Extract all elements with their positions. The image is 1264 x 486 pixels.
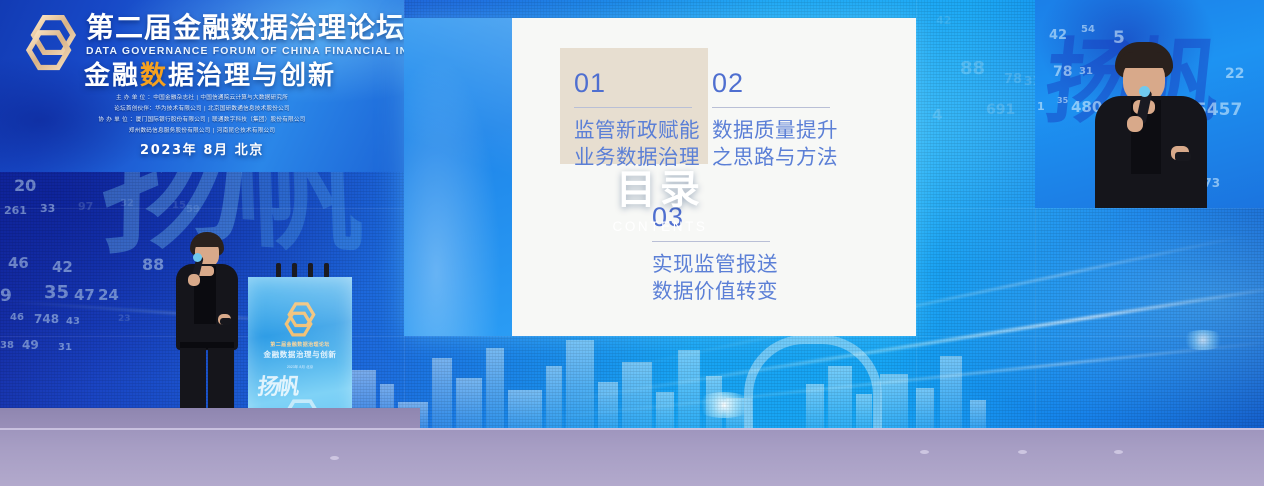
podium-date: 2023年 8月 北京 [248,365,352,370]
organizer-line: 郑州数码信息服务股份有限公司 | 河南昆仑技术有限公司 [0,126,404,137]
toc-item-rule [574,107,692,108]
toc-item-line2: 之思路与方法 [712,144,838,171]
organizer-line: 主 办 单 位 ：中国金融杂志社 | 中国信通院云计算与大数据研究所 [0,93,404,104]
floor-marker [330,456,339,460]
podium-title: 第二届金融数据治理论坛 [248,341,352,348]
organizer-line: 论坛首创伙伴：华为技术有限公司 | 北京国研数通信息技术股份公司 [0,104,404,115]
toc-item-rule [712,107,830,108]
theme-part-1: 金融 [84,61,140,91]
toc-item-number: 01 [574,70,700,97]
toc-item-02: 02 数据质量提升 之思路与方法 [712,70,838,172]
floor-marker [1114,450,1123,454]
forum-banner: 第二届金融数据治理论坛 DATA GOVERNANCE FORUM OF CHI… [0,0,404,172]
theme-highlight-char: 数 [140,61,168,91]
conference-stage-scene: 扬 帆 819 25 1 6437 17 68 23 15 4 20 261 3… [0,0,1264,486]
banner-date-location: 2023年 8月 北京 [0,139,404,158]
floor-marker [1018,450,1027,454]
banner-organizers: 主 办 单 位 ：中国金融杂志社 | 中国信通院云计算与大数据研究所 论坛首创伙… [0,93,404,137]
toc-item-line2: 数据价值转变 [652,278,778,305]
podium-calligraphy: 扬帆 [256,369,301,401]
presentation-clicker [220,318,232,325]
toc-title-en: CONTENTS [404,219,916,234]
banner-theme: 金融数据治理与创新 [84,60,336,93]
organizer-line: 协 办 单 位 ：厦门国际银行股份有限公司 | 联通数字科技（集团）股份有限公司 [0,115,404,126]
podium-subtitle: 金融数据治理与创新 [248,349,352,360]
presentation-slide: 目录 CONTENTS 01 监管新政赋能 业务数据治理 02 数据质量提升 之… [404,18,916,336]
microphone-head [1139,86,1150,97]
presentation-clicker [1175,152,1191,161]
banner-title: 第二届金融数据治理论坛 [86,14,404,42]
podium-logo-icon [282,301,318,337]
toc-title-cn: 目录 [404,170,916,210]
toc-item-line1: 监管新政赋能 [574,117,700,144]
toc-item-number: 02 [712,70,838,97]
toc-item-rule [652,241,770,242]
banner-subtitle-en: DATA GOVERNANCE FORUM OF CHINA FINANCIAL… [86,46,404,57]
feed-speaker-figure [1087,42,1217,208]
stage-floor [0,428,1264,486]
slide-toc-heading: 目录 CONTENTS [404,170,916,234]
forum-logo-icon [22,13,80,71]
microphone-head [193,253,202,262]
theme-part-2: 据治理与创新 [168,61,336,91]
floor-marker [920,450,929,454]
toc-item-line1: 实现监管报送 [652,251,778,278]
live-video-feed: 扬帆 42 54 5 78 31 41 22 35 480 5457 973 1 [1035,0,1264,208]
toc-item-01: 01 监管新政赋能 业务数据治理 [574,70,700,172]
toc-item-line1: 数据质量提升 [712,117,838,144]
